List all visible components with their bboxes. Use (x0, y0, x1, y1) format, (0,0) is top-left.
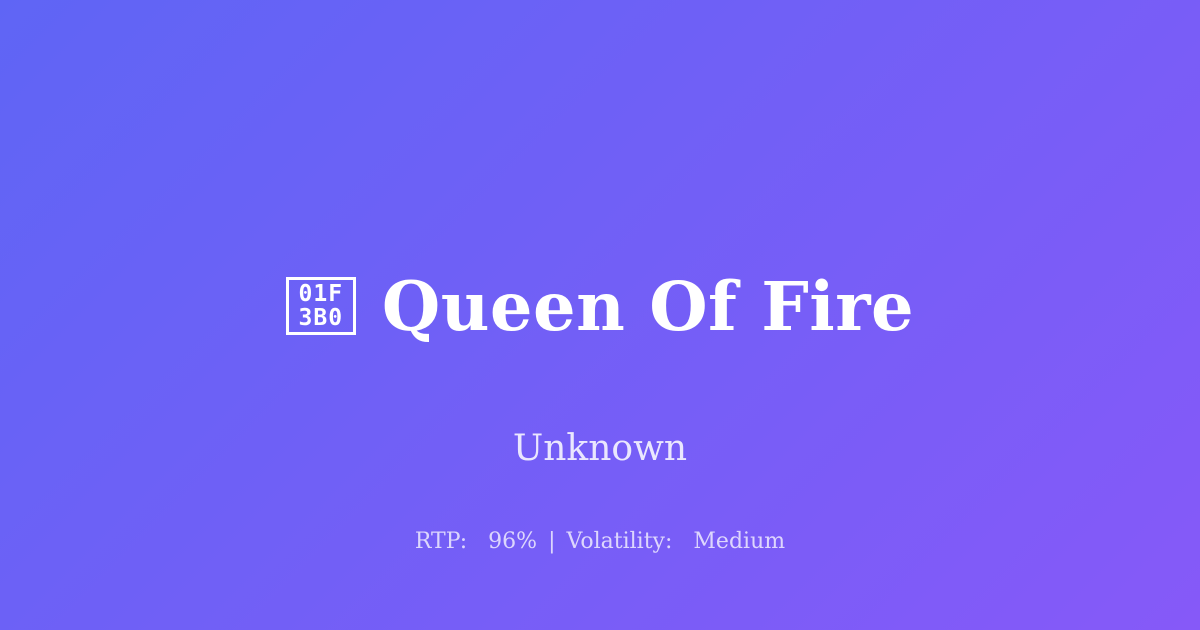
meta-separator: | (544, 529, 559, 554)
rtp-label: RTP: (415, 529, 467, 554)
provider-name: Unknown (513, 431, 687, 467)
slot-machine-icon: 01F 3B0 (286, 277, 356, 335)
rtp-value: 96% (488, 529, 537, 554)
page-title: Queen Of Fire (382, 273, 914, 340)
game-preview-card: 01F 3B0 Queen Of Fire Unknown RTP: 96% |… (0, 0, 1200, 630)
slot-machine-icon-codepoint-top: 01F (299, 282, 344, 306)
slot-machine-icon-codepoint-bottom: 3B0 (299, 306, 344, 330)
title-row: 01F 3B0 Queen Of Fire (286, 228, 914, 385)
card-center-block: 01F 3B0 Queen Of Fire Unknown (0, 228, 1200, 467)
game-meta-line: RTP: 96% | Volatility: Medium (0, 528, 1200, 556)
volatility-value: Medium (693, 529, 785, 554)
volatility-label: Volatility: (567, 529, 673, 554)
